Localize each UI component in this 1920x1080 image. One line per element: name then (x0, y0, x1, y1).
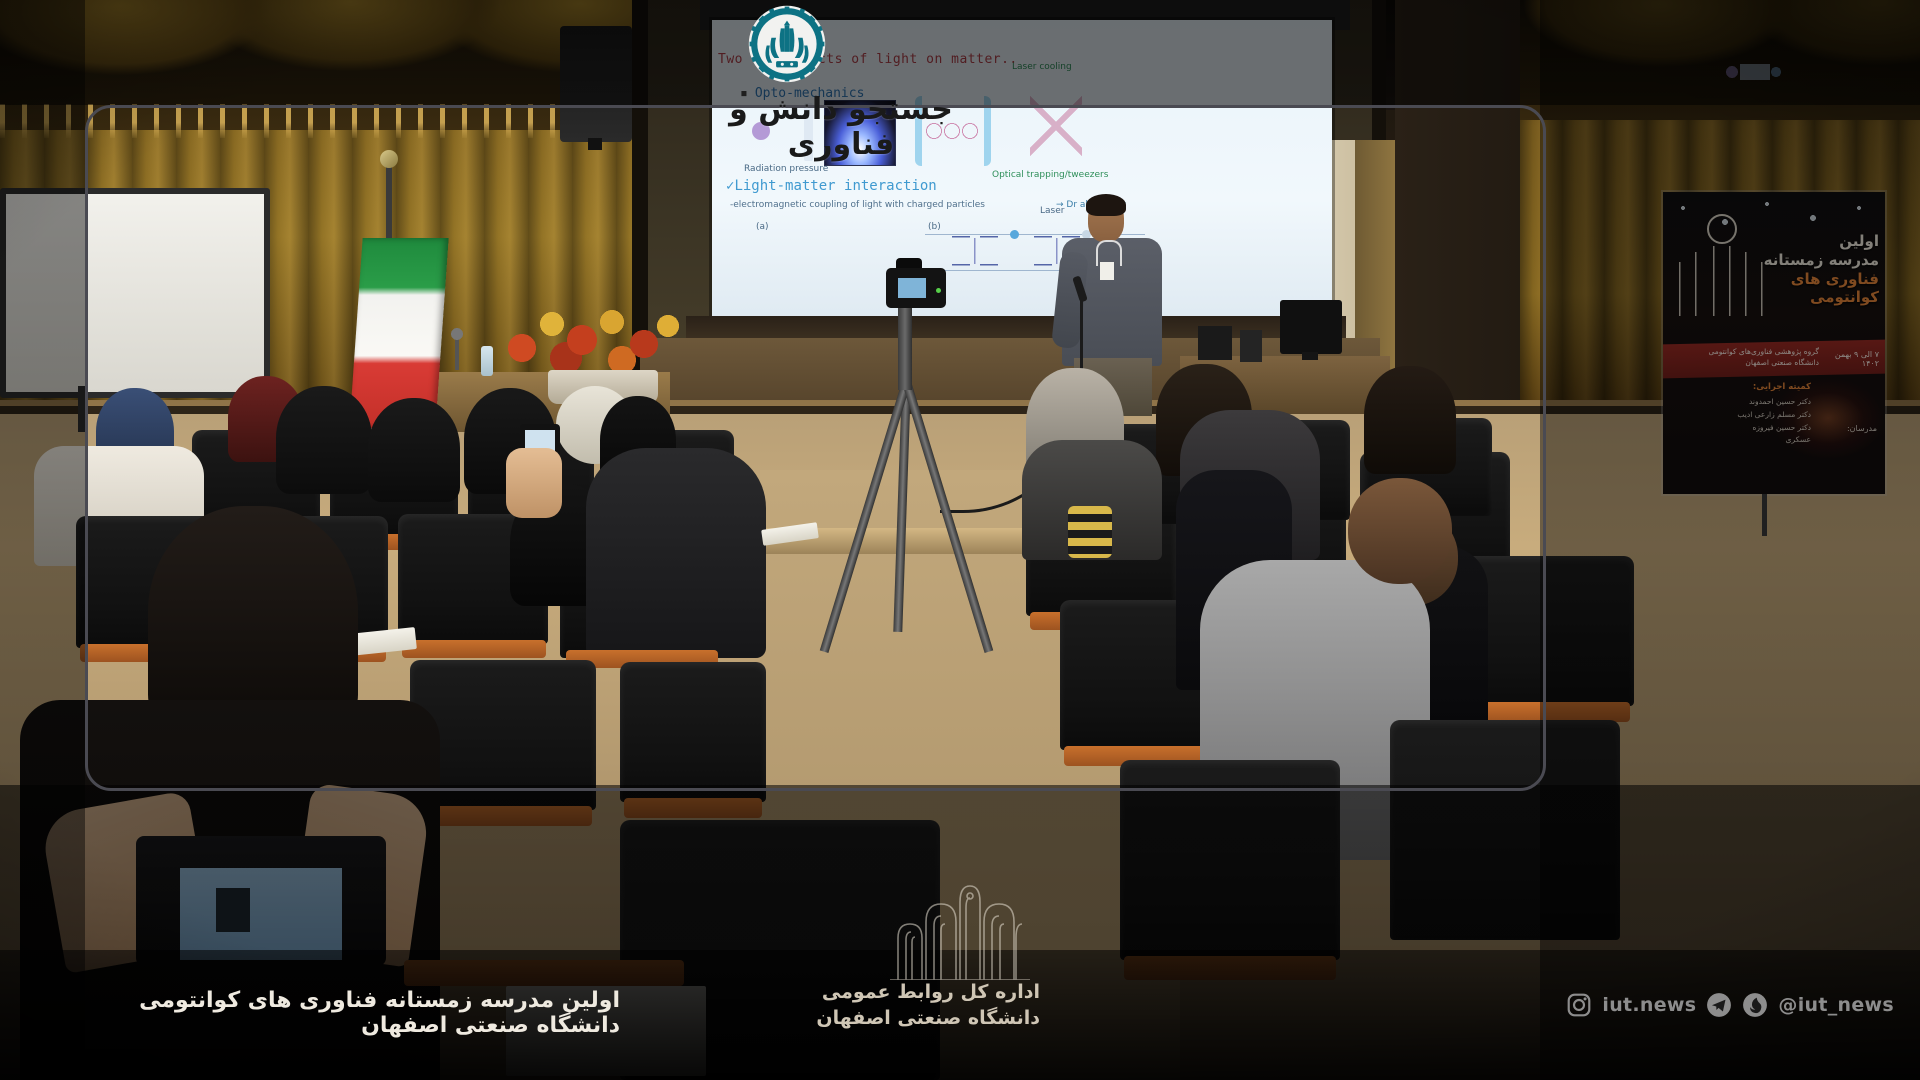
telegram-icon[interactable] (1706, 992, 1732, 1018)
slide-label-optical-trapping: Optical trapping/tweezers (992, 170, 1108, 180)
slide-tweezers-graphic (1030, 96, 1082, 156)
desk-speaker (1240, 330, 1262, 362)
tripod-column (898, 306, 912, 390)
audience-person-head (1348, 478, 1452, 584)
slide-node-1 (1010, 230, 1019, 239)
instagram-icon[interactable] (1566, 992, 1592, 1018)
whiteboard-leg (78, 386, 87, 432)
banner-committee-list: دکتر حسین احمدوند دکتر مسلم زارعی ادیب د… (1671, 396, 1811, 447)
audience-person (276, 386, 372, 494)
phone-screen (180, 868, 342, 960)
phone-screen-subject (216, 888, 250, 932)
speaker-hair (1086, 194, 1126, 216)
curtain-swag-right (1520, 0, 1920, 120)
event-banner: اولین مدرسه زمستانه فناوری های کوانتومی … (1663, 192, 1885, 494)
iut-logo-icon (748, 5, 826, 83)
monitor-stand (1302, 352, 1318, 360)
speaker-name-badge (1100, 262, 1114, 280)
banner-date: ۷ الی ۹ بهمن ۱۴۰۲ (1817, 350, 1879, 368)
photo-caption: اولین مدرسه زمستانه فناوری های کوانتومی … (60, 988, 620, 1038)
iut-arch-watermark-icon (890, 880, 1030, 980)
slide-section-light-matter: Light-matter interaction (726, 178, 937, 194)
social-media-bar: iut.news @iut_news (1566, 992, 1894, 1018)
hand (506, 448, 562, 518)
slide-label-laser-cooling: Laser cooling (1012, 62, 1072, 72)
ceiling-speaker (560, 26, 632, 142)
banner-title-line1: اولین (1753, 232, 1879, 251)
banner-title-line3: فناوری های (1753, 270, 1879, 289)
desk-monitor (1280, 300, 1342, 354)
banner-title-line4: کوانتومی (1753, 288, 1879, 307)
banner-group-line1: گروه پژوهشی فناوری‌های کوانتومی (1669, 346, 1819, 357)
slide-diagram-dots (1724, 64, 1786, 80)
banner-committee-heading: کمیته اجرایی: (1671, 382, 1811, 392)
seat-armrest (624, 798, 762, 818)
ceiling-speaker-mount (588, 138, 602, 150)
seat (1120, 760, 1340, 960)
banner-committee-member: دکتر مسلم زارعی ادیب (1671, 409, 1811, 422)
seat (620, 662, 766, 802)
slide-label-laser: Laser (1040, 206, 1064, 216)
banner-title-line2: مدرسه زمستانه (1753, 251, 1879, 270)
audience-person (368, 398, 460, 502)
public-relations-watermark: اداره کل روابط عمومی دانشگاه صنعتی اصفها… (700, 980, 1040, 1031)
slide-section-subtitle: -electromagnetic coupling of light with … (730, 200, 985, 210)
water-bottle (481, 346, 493, 376)
pr-line-2: دانشگاه صنعتی اصفهان (700, 1006, 1040, 1032)
flag-pole-finial (380, 150, 398, 168)
banner-university-logo (1707, 214, 1737, 244)
slide-label-a: (a) (756, 222, 769, 232)
pr-line-1: اداره کل روابط عمومی (700, 980, 1040, 1006)
banner-committee-member: عسکری (1671, 434, 1811, 447)
banner-speakers-heading: مدرسان: (1787, 424, 1877, 433)
audience-person-jacket (586, 448, 766, 658)
screenshot-root: Two ... effects of light on matter.. Opt… (0, 0, 1920, 1080)
bale-icon[interactable] (1742, 992, 1768, 1018)
top-watermark-text: جستجو دانش و فناوری (676, 92, 1006, 162)
instagram-handle[interactable]: iut.news (1602, 994, 1696, 1016)
seat (1390, 720, 1620, 940)
microphone-stand (444, 326, 470, 370)
banner-group-line2: دانشگاه صنعتی اصفهان (1669, 357, 1819, 368)
messaging-handle[interactable]: @iut_news (1778, 994, 1894, 1016)
audience-person (1364, 366, 1456, 474)
slide-label-radiation-pressure: Radiation pressure (744, 164, 828, 174)
banner-title: اولین مدرسه زمستانه فناوری های کوانتومی (1753, 232, 1879, 307)
banner-stand (1762, 494, 1767, 536)
banner-committee-member: دکتر حسین احمدوند (1671, 396, 1811, 409)
camera-indicator-light (936, 288, 941, 293)
whiteboard (0, 188, 270, 398)
seat-armrest (414, 806, 592, 826)
desktop-computer (1198, 326, 1232, 360)
striped-socks (1068, 506, 1112, 558)
seat-armrest (402, 640, 546, 658)
banner-group-info: گروه پژوهشی فناوری‌های کوانتومی دانشگاه … (1669, 346, 1819, 369)
camera-lcd-screen (898, 278, 926, 298)
